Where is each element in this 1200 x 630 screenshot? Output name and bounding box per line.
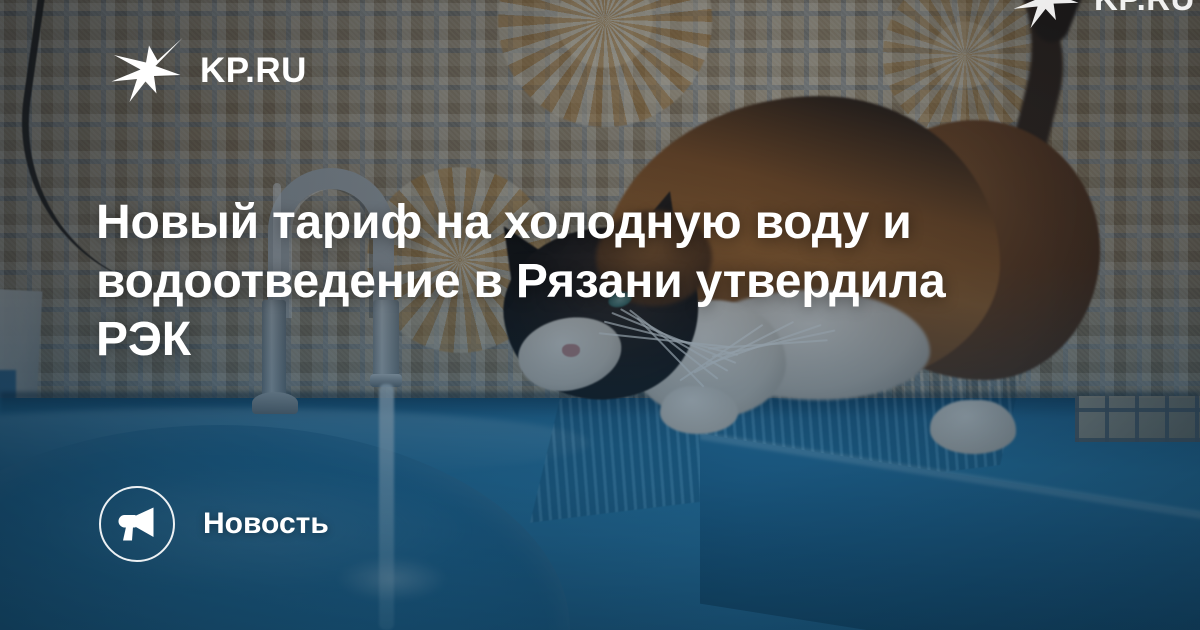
swallow-bird-icon xyxy=(110,36,184,104)
megaphone-icon xyxy=(117,506,157,542)
news-card: KP.RU KP.RU Новый тариф на холодную воду… xyxy=(0,0,1200,630)
watermark-name: KP.RU xyxy=(1094,0,1195,15)
swallow-bird-icon xyxy=(1012,0,1082,30)
badge-label: Новость xyxy=(203,509,329,539)
page-title: Новый тариф на холодную воду и водоотвед… xyxy=(96,194,1046,370)
overlay-content: KP.RU KP.RU Новый тариф на холодную воду… xyxy=(0,0,1200,630)
status-badge[interactable]: Новость xyxy=(99,486,329,562)
badge-circle xyxy=(99,486,175,562)
brand-logo[interactable]: KP.RU xyxy=(110,36,307,104)
brand-name: KP.RU xyxy=(200,53,307,88)
brand-watermark: KP.RU xyxy=(1012,0,1195,30)
